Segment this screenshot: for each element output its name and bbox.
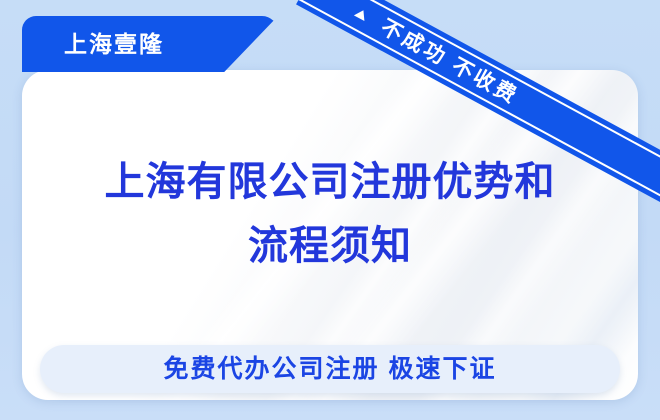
- cta-banner-label: 免费代办公司注册 极速下证: [164, 357, 497, 382]
- promo-poster: 上海有限公司注册优势和 流程须知 免费代办公司注册 极速下证 上海壹隆 不成功 …: [0, 0, 660, 420]
- cta-banner[interactable]: 免费代办公司注册 极速下证: [40, 345, 620, 393]
- triangle-up-icon: [354, 7, 369, 21]
- brand-tab[interactable]: [22, 16, 278, 72]
